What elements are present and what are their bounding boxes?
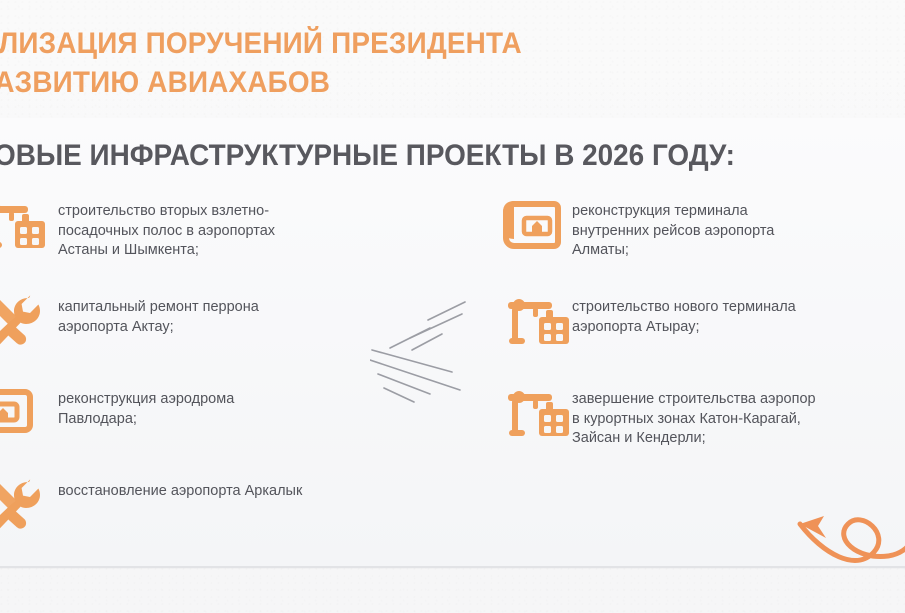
list-item: строительство вторых взлетно- посадочных… bbox=[0, 196, 406, 292]
list-item-text: восстановление аэропорта Аркалык bbox=[58, 476, 302, 502]
list-item: реконструкция терминала внутренних рейсо… bbox=[500, 196, 905, 292]
blueprint-icon bbox=[0, 384, 58, 446]
left-column: строительство вторых взлетно- посадочных… bbox=[0, 196, 406, 556]
list-item-text: капитальный ремонт перрона аэропорта Акт… bbox=[58, 292, 259, 337]
list-item-text: реконструкция терминала внутренних рейсо… bbox=[572, 196, 774, 261]
crane-building-icon bbox=[500, 292, 572, 354]
list-item-text: строительство вторых взлетно- посадочных… bbox=[58, 196, 275, 261]
list-item-text: строительство нового терминала аэропорта… bbox=[572, 292, 796, 337]
crane-building-icon bbox=[500, 384, 572, 446]
list-item-text: реконструкция аэродрома Павлодара; bbox=[58, 384, 234, 429]
title-line-1: АЛИЗАЦИЯ ПОРУЧЕНИЙ ПРЕЗИДЕНТА bbox=[0, 24, 796, 63]
wrench-screwdriver-icon bbox=[0, 292, 58, 354]
list-item: восстановление аэропорта Аркалык bbox=[0, 476, 406, 556]
list-item-text: завершение строительства аэропор в курор… bbox=[572, 384, 816, 449]
blueprint-folded-icon bbox=[500, 196, 572, 258]
wrench-screwdriver-icon bbox=[0, 476, 58, 538]
list-item: строительство нового терминала аэропорта… bbox=[500, 292, 905, 384]
list-item: реконструкция аэродрома Павлодара; bbox=[0, 384, 406, 476]
list-item: капитальный ремонт перрона аэропорта Акт… bbox=[0, 292, 406, 384]
crane-building-icon bbox=[0, 196, 58, 258]
title-line-2: РАЗВИТИЮ АВИАХАБОВ bbox=[0, 63, 796, 102]
list-item: завершение строительства аэропор в курор… bbox=[500, 384, 905, 476]
panel-subtitle: ОВЫЕ ИНФРАСТРУКТУРНЫЕ ПРОЕКТЫ В 2026 ГОД… bbox=[0, 138, 735, 174]
right-column: реконструкция терминала внутренних рейсо… bbox=[500, 196, 905, 476]
page-title: АЛИЗАЦИЯ ПОРУЧЕНИЙ ПРЕЗИДЕНТА РАЗВИТИЮ А… bbox=[0, 24, 858, 102]
